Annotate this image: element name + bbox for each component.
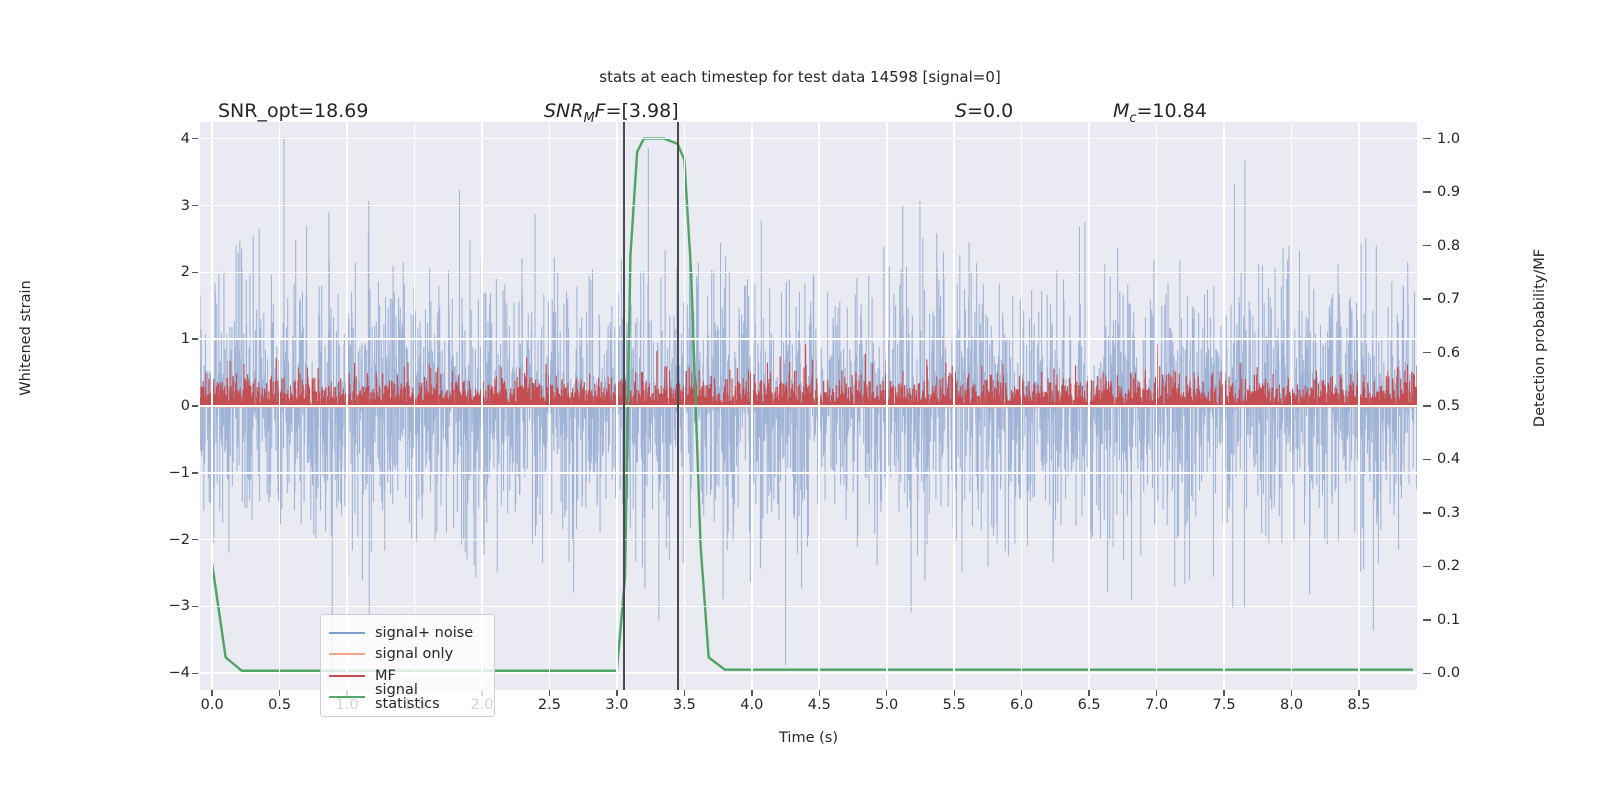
gridline-vertical bbox=[1223, 122, 1225, 690]
x-axis-tick-label: 5.0 bbox=[852, 697, 922, 713]
gridline-vertical bbox=[751, 122, 753, 690]
y-axis-right-label: Detection probability/MF bbox=[1532, 158, 1548, 518]
gridline-vertical bbox=[414, 122, 416, 690]
legend-item-label: signal statistics bbox=[375, 683, 486, 712]
gridline-vertical bbox=[886, 122, 888, 690]
y-axis-right-tick-mark bbox=[1423, 138, 1431, 139]
gridline-vertical bbox=[1358, 122, 1360, 690]
y-axis-right-tick-mark bbox=[1423, 352, 1431, 353]
x-axis-tick-mark bbox=[1088, 690, 1089, 696]
legend-item-label: MF bbox=[375, 669, 396, 684]
y-axis-tick-label: 4 bbox=[130, 131, 190, 147]
y-axis-left-label: Whitened strain bbox=[18, 188, 34, 488]
x-axis-tick-mark bbox=[1021, 690, 1022, 696]
gridline-vertical bbox=[279, 122, 281, 690]
x-axis-tick-label: 7.5 bbox=[1189, 697, 1259, 713]
x-axis-tick-mark bbox=[954, 690, 955, 696]
x-axis-tick-label: 4.0 bbox=[717, 697, 787, 713]
y-axis-tick-label: −1 bbox=[130, 465, 190, 481]
y-axis-right-tick-label: 0.6 bbox=[1437, 345, 1497, 361]
y-axis-right-tick-mark bbox=[1423, 191, 1431, 192]
x-axis-tick-mark bbox=[886, 690, 887, 696]
legend[interactable]: signal+ noisesignal onlyMFsignal statist… bbox=[320, 614, 495, 717]
y-axis-tick-mark bbox=[192, 539, 198, 540]
y-axis-tick-mark bbox=[192, 338, 198, 339]
y-axis-right-tick-label: 0.8 bbox=[1437, 238, 1497, 254]
x-axis-tick-mark bbox=[751, 690, 752, 696]
x-axis-tick-mark bbox=[211, 690, 212, 696]
x-axis-tick-mark bbox=[684, 690, 685, 696]
chart-title: stats at each timestep for test data 145… bbox=[0, 68, 1600, 86]
y-axis-right-tick-mark bbox=[1423, 245, 1431, 246]
y-axis-tick-mark bbox=[192, 472, 198, 473]
x-axis-tick-label: 6.5 bbox=[1054, 697, 1124, 713]
x-axis-tick-mark bbox=[549, 690, 550, 696]
gridline-vertical bbox=[1156, 122, 1158, 690]
y-axis-right-tick-label: 0.0 bbox=[1437, 665, 1497, 681]
gridline-vertical bbox=[953, 122, 955, 690]
vertical-marker-line bbox=[677, 122, 679, 690]
x-axis-tick-label: 8.5 bbox=[1324, 697, 1394, 713]
y-axis-right-tick-label: 1.0 bbox=[1437, 131, 1497, 147]
legend-item-label: signal only bbox=[375, 647, 453, 662]
gridline-vertical bbox=[684, 122, 686, 690]
x-axis-tick-label: 6.0 bbox=[987, 697, 1057, 713]
y-axis-right-tick-mark bbox=[1423, 619, 1431, 620]
y-axis-tick-mark bbox=[192, 673, 198, 674]
gridline-horizontal bbox=[200, 606, 1417, 608]
gridline-vertical bbox=[346, 122, 348, 690]
x-axis-tick-mark bbox=[819, 690, 820, 696]
x-axis-tick-mark bbox=[1156, 690, 1157, 696]
x-axis-tick-label: 3.5 bbox=[649, 697, 719, 713]
figure-canvas: stats at each timestep for test data 145… bbox=[0, 0, 1600, 800]
y-axis-tick-label: −2 bbox=[130, 532, 190, 548]
y-axis-right-tick-mark bbox=[1423, 673, 1431, 674]
y-axis-tick-label: 2 bbox=[130, 264, 190, 280]
x-axis-tick-label: 5.5 bbox=[919, 697, 989, 713]
x-axis-tick-mark bbox=[1358, 690, 1359, 696]
x-axis-tick-label: 2.5 bbox=[514, 697, 584, 713]
gridline-horizontal bbox=[200, 205, 1417, 207]
legend-swatch-icon bbox=[329, 632, 365, 634]
gridline-vertical bbox=[818, 122, 820, 690]
y-axis-tick-label: 3 bbox=[130, 198, 190, 214]
x-axis-tick-mark bbox=[616, 690, 617, 696]
y-axis-tick-mark bbox=[192, 606, 198, 607]
gridline-horizontal bbox=[200, 539, 1417, 541]
x-axis-tick-mark bbox=[1223, 690, 1224, 696]
y-axis-right-tick-label: 0.9 bbox=[1437, 184, 1497, 200]
y-axis-right-tick-mark bbox=[1423, 459, 1431, 460]
annotation-snr-opt: SNR_opt=18.69 bbox=[218, 100, 368, 122]
legend-swatch-icon bbox=[329, 675, 365, 677]
gridline-horizontal bbox=[200, 138, 1417, 140]
y-axis-tick-label: 1 bbox=[130, 331, 190, 347]
x-axis-tick-label: 7.0 bbox=[1122, 697, 1192, 713]
y-axis-right-tick-label: 0.5 bbox=[1437, 398, 1497, 414]
y-axis-right-tick-label: 0.1 bbox=[1437, 612, 1497, 628]
y-axis-tick-label: −4 bbox=[130, 665, 190, 681]
legend-item[interactable]: signal only bbox=[329, 644, 486, 666]
y-axis-right-tick-mark bbox=[1423, 298, 1431, 299]
gridline-horizontal bbox=[200, 472, 1417, 474]
y-axis-tick-label: 0 bbox=[130, 398, 190, 414]
y-axis-right-tick-label: 0.2 bbox=[1437, 558, 1497, 574]
x-axis-tick-label: 3.0 bbox=[582, 697, 652, 713]
gridline-vertical bbox=[481, 122, 483, 690]
legend-item[interactable]: signal+ noise bbox=[329, 622, 486, 644]
gridline-horizontal bbox=[200, 338, 1417, 340]
gridline-vertical bbox=[211, 122, 213, 690]
gridline-vertical bbox=[1021, 122, 1023, 690]
y-axis-tick-mark bbox=[192, 272, 198, 273]
y-axis-right-tick-label: 0.3 bbox=[1437, 505, 1497, 521]
y-axis-tick-label: −3 bbox=[130, 598, 190, 614]
x-axis-label: Time (s) bbox=[200, 730, 1417, 746]
gridline-vertical bbox=[1291, 122, 1293, 690]
x-axis-tick-mark bbox=[1291, 690, 1292, 696]
legend-swatch-icon bbox=[329, 696, 365, 698]
y-axis-right-tick-mark bbox=[1423, 566, 1431, 567]
x-axis-tick-label: 8.0 bbox=[1257, 697, 1327, 713]
gridline-vertical bbox=[1088, 122, 1090, 690]
y-axis-tick-mark bbox=[192, 405, 198, 406]
y-axis-right-tick-mark bbox=[1423, 405, 1431, 406]
legend-item-label: signal+ noise bbox=[375, 626, 473, 641]
gridline-vertical bbox=[549, 122, 551, 690]
legend-swatch-icon bbox=[329, 653, 365, 655]
x-axis-tick-label: 0.5 bbox=[245, 697, 315, 713]
x-axis-tick-label: 4.5 bbox=[784, 697, 854, 713]
y-axis-right-tick-mark bbox=[1423, 512, 1431, 513]
y-axis-tick-mark bbox=[192, 205, 198, 206]
annotation-s: S=0.0 bbox=[955, 100, 1013, 122]
gridline-horizontal bbox=[200, 272, 1417, 274]
legend-item[interactable]: signal statistics bbox=[329, 687, 486, 709]
y-axis-right-tick-label: 0.7 bbox=[1437, 291, 1497, 307]
y-axis-right-tick-label: 0.4 bbox=[1437, 451, 1497, 467]
gridline-vertical bbox=[616, 122, 618, 690]
plot-area bbox=[200, 122, 1417, 690]
gridline-horizontal bbox=[200, 405, 1417, 407]
x-axis-tick-mark bbox=[279, 690, 280, 696]
vertical-marker-line bbox=[623, 122, 625, 690]
y-axis-tick-mark bbox=[192, 138, 198, 139]
x-axis-tick-label: 0.0 bbox=[177, 697, 247, 713]
